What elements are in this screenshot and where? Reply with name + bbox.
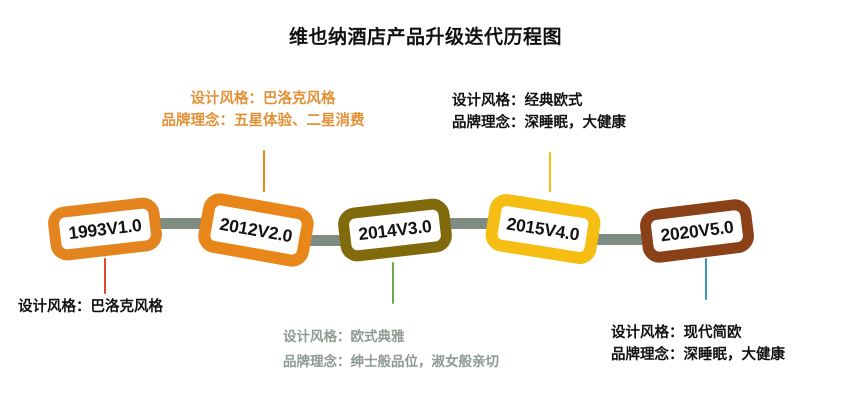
annotation-2012-line1: 设计风格：巴洛克风格	[108, 88, 418, 110]
page-title: 维也纳酒店产品升级迭代历程图	[0, 22, 851, 49]
annotation-2014-line1: 设计风格：欧式典雅	[283, 325, 583, 350]
tick-2020	[705, 258, 707, 300]
annotation-2020-line1: 设计风格：现代简欧	[611, 322, 851, 344]
tick-2015	[549, 152, 551, 192]
annotation-1993-line1: 设计风格：巴洛克风格	[18, 296, 278, 318]
annotation-2020: 设计风格：现代简欧 品牌理念：深睡眠，大健康	[611, 322, 851, 367]
annotation-2014-line2: 品牌理念：绅士般品位，淑女般亲切	[283, 350, 583, 375]
annotation-2012: 设计风格：巴洛克风格 品牌理念：五星体验、二星消费	[108, 88, 418, 133]
diagram-canvas: 维也纳酒店产品升级迭代历程图 设计风格：巴洛克风格 品牌理念：五星体验、二星消费…	[0, 0, 851, 406]
node-2015[interactable]: 2015V4.0	[483, 192, 603, 267]
tick-1993	[104, 258, 106, 294]
node-1993[interactable]: 1993V1.0	[46, 196, 163, 262]
annotation-2015-line1: 设计风格：经典欧式	[452, 90, 742, 112]
node-2014[interactable]: 2014V3.0	[336, 197, 453, 263]
node-1993-label: 1993V1.0	[67, 214, 142, 243]
annotation-1993: 设计风格：巴洛克风格	[18, 296, 278, 318]
node-2015-label: 2015V4.0	[505, 213, 581, 245]
annotation-2014: 设计风格：欧式典雅 品牌理念：绅士般品位，淑女般亲切	[283, 325, 583, 375]
node-2020[interactable]: 2020V5.0	[638, 197, 756, 264]
tick-2012	[263, 150, 265, 192]
annotation-2015-line2: 品牌理念：深睡眠，大健康	[452, 112, 742, 134]
tick-2014	[392, 262, 394, 304]
node-2012-label: 2012V2.0	[218, 213, 294, 246]
annotation-2012-line2: 品牌理念：五星体验、二星消费	[108, 110, 418, 132]
annotation-2015: 设计风格：经典欧式 品牌理念：深睡眠，大健康	[452, 90, 742, 135]
node-2012[interactable]: 2012V2.0	[196, 191, 317, 270]
node-2020-label: 2020V5.0	[659, 216, 734, 246]
annotation-2020-line2: 品牌理念：深睡眠，大健康	[611, 344, 851, 366]
node-2014-label: 2014V3.0	[357, 215, 432, 244]
